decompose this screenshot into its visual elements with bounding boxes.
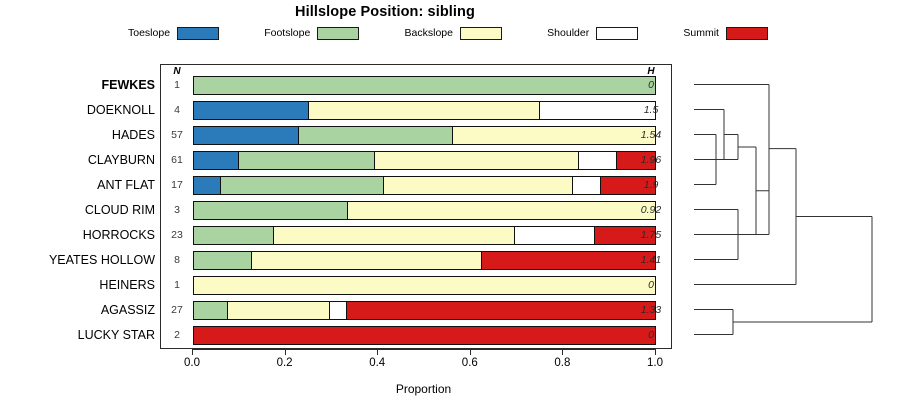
bar-segment-shoulder: [515, 227, 595, 244]
stacked-bar: [193, 201, 656, 220]
chart-row: 611.96CLAYBURN: [161, 148, 671, 173]
row-label: YEATES HOLLOW: [43, 248, 155, 273]
row-h-value: 0: [633, 273, 669, 298]
bar-segment-backslope: [384, 177, 574, 194]
row-n-value: 61: [163, 148, 191, 173]
bar-segment-backslope: [375, 152, 579, 169]
legend-label: Summit: [683, 27, 719, 39]
bar-segment-shoulder: [330, 302, 347, 319]
stacked-bar: [193, 176, 656, 195]
x-axis-title: Proportion: [192, 382, 655, 396]
row-h-value: 1.96: [633, 148, 669, 173]
row-h-value: 1.33: [633, 298, 669, 323]
stacked-bar: [193, 276, 656, 295]
bar-segment-footslope: [239, 152, 375, 169]
chart-row: 10FEWKES: [161, 73, 671, 98]
row-label: HORROCKS: [43, 223, 155, 248]
chart-row: 30.92CLOUD RIM: [161, 198, 671, 223]
row-h-value: 1.9: [633, 173, 669, 198]
row-h-value: 1.75: [633, 223, 669, 248]
bar-segment-backslope: [228, 302, 330, 319]
legend-item-backslope: Backslope: [405, 27, 502, 40]
stacked-bar: [193, 251, 656, 270]
bar-segment-summit: [482, 252, 655, 269]
legend-item-footslope: Footslope: [264, 27, 359, 40]
row-n-value: 3: [163, 198, 191, 223]
x-tick: [285, 349, 286, 355]
bar-segment-footslope: [221, 177, 384, 194]
page-title: Hillslope Position: sibling: [0, 4, 770, 20]
row-h-value: 1.54: [633, 123, 669, 148]
legend-swatch: [726, 27, 768, 40]
bar-segment-footslope: [194, 302, 228, 319]
row-n-value: 4: [163, 98, 191, 123]
bar-segment-toeslope: [194, 152, 239, 169]
row-h-value: 0: [633, 323, 669, 348]
stacked-bar: [193, 226, 656, 245]
legend-label: Toeslope: [128, 27, 170, 39]
bar-segment-summit: [194, 327, 655, 344]
row-label: FEWKES: [43, 73, 155, 98]
stacked-bar: [193, 126, 656, 145]
chart-row: 271.33AGASSIZ: [161, 298, 671, 323]
row-h-value: 0.92: [633, 198, 669, 223]
legend-swatch: [460, 27, 502, 40]
chart-row: 41.5DOEKNOLL: [161, 98, 671, 123]
x-tick: [377, 349, 378, 355]
bar-segment-footslope: [194, 202, 348, 219]
legend-swatch: [177, 27, 219, 40]
chart-row: 20LUCKY STAR: [161, 323, 671, 348]
row-label: ANT FLAT: [43, 173, 155, 198]
chart-row: 81.41YEATES HOLLOW: [161, 248, 671, 273]
row-h-value: 1.41: [633, 248, 669, 273]
x-tick-label: 0.2: [265, 357, 305, 369]
chart-row: 171.9ANT FLAT: [161, 173, 671, 198]
bar-segment-footslope: [194, 77, 655, 94]
row-label: LUCKY STAR: [43, 323, 155, 348]
stacked-bar: [193, 301, 656, 320]
row-n-value: 1: [163, 273, 191, 298]
row-n-value: 17: [163, 173, 191, 198]
stacked-bar: [193, 326, 656, 345]
row-n-value: 8: [163, 248, 191, 273]
bar-segment-backslope: [348, 202, 655, 219]
row-label: DOEKNOLL: [43, 98, 155, 123]
legend-label: Footslope: [264, 27, 310, 39]
bar-segment-backslope: [309, 102, 540, 119]
x-tick-label: 0.6: [450, 357, 490, 369]
row-n-value: 27: [163, 298, 191, 323]
row-h-value: 0: [633, 73, 669, 98]
row-n-value: 1: [163, 73, 191, 98]
x-axis-line: [192, 349, 655, 350]
stacked-bar: [193, 76, 656, 95]
bar-segment-shoulder: [579, 152, 617, 169]
bar-segment-toeslope: [194, 102, 309, 119]
legend-item-shoulder: Shoulder: [547, 27, 638, 40]
row-n-value: 57: [163, 123, 191, 148]
chart-root: Hillslope Position: sibling ToeslopeFoot…: [0, 0, 900, 420]
legend-label: Backslope: [405, 27, 453, 39]
legend-swatch: [317, 27, 359, 40]
bar-segment-shoulder: [573, 177, 600, 194]
bar-segment-summit: [347, 302, 654, 319]
row-label: HEINERS: [43, 273, 155, 298]
bar-segment-backslope: [274, 227, 515, 244]
row-label: CLOUD RIM: [43, 198, 155, 223]
row-h-value: 1.5: [633, 98, 669, 123]
legend-swatch: [596, 27, 638, 40]
dendrogram: [676, 60, 900, 352]
row-label: CLAYBURN: [43, 148, 155, 173]
bar-segment-footslope: [299, 127, 453, 144]
x-tick: [470, 349, 471, 355]
stacked-bar: [193, 101, 656, 120]
row-label: HADES: [43, 123, 155, 148]
chart-row: 231.75HORROCKS: [161, 223, 671, 248]
bar-segment-footslope: [194, 227, 274, 244]
x-tick: [562, 349, 563, 355]
x-tick-label: 0.4: [357, 357, 397, 369]
legend-item-toeslope: Toeslope: [128, 27, 219, 40]
bar-segment-backslope: [194, 277, 655, 294]
legend-item-summit: Summit: [683, 27, 768, 40]
x-tick-label: 0.0: [172, 357, 212, 369]
bar-segment-toeslope: [194, 177, 221, 194]
row-label: AGASSIZ: [43, 298, 155, 323]
plot-area: N H 10FEWKES41.5DOEKNOLL571.54HADES611.9…: [160, 64, 672, 349]
chart-row: 571.54HADES: [161, 123, 671, 148]
chart-row: 10HEINERS: [161, 273, 671, 298]
bar-segment-toeslope: [194, 127, 299, 144]
row-n-value: 2: [163, 323, 191, 348]
x-tick: [655, 349, 656, 355]
row-n-value: 23: [163, 223, 191, 248]
legend-label: Shoulder: [547, 27, 589, 39]
bar-segment-backslope: [252, 252, 483, 269]
bar-segment-backslope: [453, 127, 655, 144]
x-tick-label: 1.0: [635, 357, 675, 369]
x-tick-label: 0.8: [542, 357, 582, 369]
stacked-bar: [193, 151, 656, 170]
legend: ToeslopeFootslopeBackslopeShoulderSummit: [128, 24, 768, 42]
bar-segment-footslope: [194, 252, 252, 269]
x-tick: [192, 349, 193, 355]
